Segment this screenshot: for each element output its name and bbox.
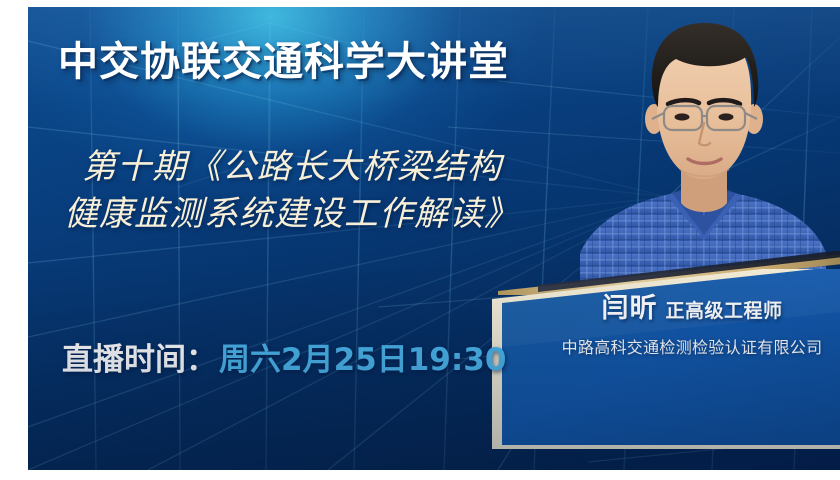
speaker-title: 正高级工程师 xyxy=(665,300,782,322)
airtime-label: 直播时间： xyxy=(62,342,217,378)
page-title: 中交协联交通科学大讲堂 xyxy=(58,29,509,87)
speaker-card-text: 闫昕正高级工程师 中路高科交通检测检验认证有限公司 xyxy=(516,295,840,358)
subtitle-line-2: 健康监测系统建设工作解读》 xyxy=(64,191,624,238)
subtitle-block: 第十期《公路长大桥梁结构 健康监测系统建设工作解读》 xyxy=(64,144,624,238)
speaker-info-card: 闫昕正高级工程师 中路高科交通检测检验认证有限公司 xyxy=(490,269,840,469)
speaker-organization: 中路高科交通检测检验认证有限公司 xyxy=(516,334,840,358)
poster-root: 中交协联交通科学大讲堂 第十期《公路长大桥梁结构 健康监测系统建设工作解读》 xyxy=(0,0,840,480)
speaker-portrait xyxy=(568,7,838,297)
airtime-row: 直播时间：周六2月25日19:30 xyxy=(62,334,506,379)
poster-artboard: 中交协联交通科学大讲堂 第十期《公路长大桥梁结构 健康监测系统建设工作解读》 xyxy=(28,7,840,470)
speaker-name: 闫昕 xyxy=(601,293,657,324)
speaker-name-row: 闫昕正高级工程师 xyxy=(516,295,840,322)
airtime-value: 周六2月25日19:30 xyxy=(219,342,506,378)
subtitle-line-1: 第十期《公路长大桥梁结构 xyxy=(64,144,624,191)
